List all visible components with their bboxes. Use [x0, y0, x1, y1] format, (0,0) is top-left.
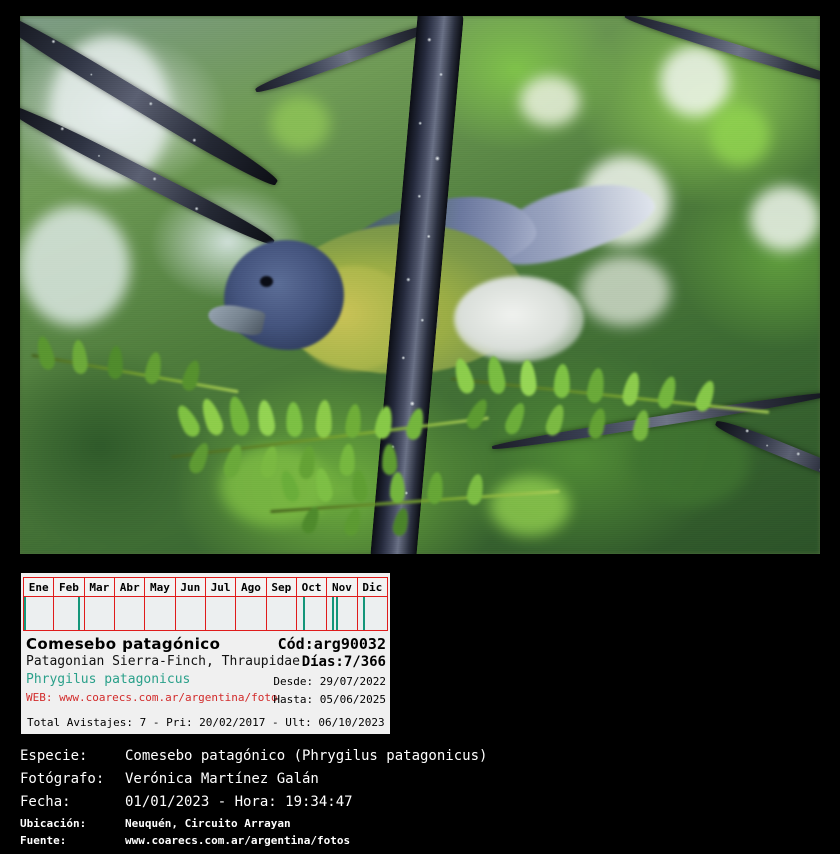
month-cell	[357, 597, 387, 631]
footer-value-fecha: 01/01/2023 - Hora: 19:34:47	[125, 794, 353, 810]
calendar-header-row: Ene Feb Mar Abr May Jun Jul Ago Sep Oct …	[24, 578, 388, 597]
month-header-jun: Jun	[175, 578, 205, 597]
photo-grain-overlay	[20, 16, 820, 554]
month-header-oct: Oct	[296, 578, 326, 597]
footer-row-fotografo: Fotógrafo: Verónica Martínez Galán	[20, 771, 820, 794]
footer-label-fotografo: Fotógrafo:	[20, 771, 125, 787]
footer-value-especie: Comesebo patagónico (Phrygilus patagonic…	[125, 748, 487, 764]
photo-metadata-footer: Especie: Comesebo patagónico (Phrygilus …	[20, 748, 820, 851]
row-scientific-name: Phrygilus patagonicus Desde: 29/07/2022	[26, 672, 390, 690]
month-cell	[266, 597, 296, 631]
footer-value-fuente[interactable]: www.coarecs.com.ar/argentina/fotos	[125, 834, 350, 847]
month-cell	[175, 597, 205, 631]
web-url-line[interactable]: WEB: www.coarecs.com.ar/argentina/foto	[26, 691, 278, 704]
month-header-may: May	[145, 578, 175, 597]
row-total: Total Avistajes: 7 - Pri: 20/02/2017 - U…	[26, 708, 390, 727]
calendar-marks-row	[24, 597, 388, 631]
date-range-from: Desde: 29/07/2022	[273, 675, 386, 688]
row-english-name: Patagonian Sierra-Finch, Thraupidae Días…	[26, 654, 390, 672]
days-counter: Días:7/366	[302, 654, 386, 670]
species-info-card: Ene Feb Mar Abr May Jun Jul Ago Sep Oct …	[20, 572, 391, 735]
month-header-mar: Mar	[84, 578, 114, 597]
month-cell	[236, 597, 266, 631]
card-info-block: Comesebo patagónico Cód:arg90032 Patagon…	[21, 631, 390, 727]
sighting-mark	[24, 597, 26, 630]
month-cell	[327, 597, 357, 631]
screenshot-root: Ene Feb Mar Abr May Jun Jul Ago Sep Oct …	[0, 0, 840, 854]
row-common-name: Comesebo patagónico Cód:arg90032	[26, 634, 390, 654]
footer-row-ubicacion: Ubicación: Neuquén, Circuito Arrayan	[20, 817, 820, 834]
date-range-to: Hasta: 05/06/2025	[273, 693, 386, 706]
bird-photograph	[20, 16, 820, 554]
sighting-mark	[363, 597, 365, 630]
month-header-sep: Sep	[266, 578, 296, 597]
footer-label-ubicacion: Ubicación:	[20, 817, 125, 830]
month-cell	[145, 597, 175, 631]
sighting-mark	[332, 597, 334, 630]
species-english-name: Patagonian Sierra-Finch, Thraupidae	[26, 654, 300, 669]
month-header-ene: Ene	[24, 578, 54, 597]
month-header-jul: Jul	[205, 578, 235, 597]
sighting-mark	[336, 597, 338, 630]
footer-label-fecha: Fecha:	[20, 794, 125, 810]
footer-value-fotografo: Verónica Martínez Galán	[125, 771, 319, 787]
month-header-nov: Nov	[327, 578, 357, 597]
month-header-dic: Dic	[357, 578, 387, 597]
footer-row-especie: Especie: Comesebo patagónico (Phrygilus …	[20, 748, 820, 771]
species-code: Cód:arg90032	[278, 635, 386, 653]
total-sightings-line: Total Avistajes: 7 - Pri: 20/02/2017 - U…	[26, 716, 385, 729]
footer-value-ubicacion: Neuquén, Circuito Arrayan	[125, 817, 291, 830]
month-header-ago: Ago	[236, 578, 266, 597]
sighting-mark	[78, 597, 80, 630]
month-cell	[54, 597, 84, 631]
month-header-feb: Feb	[54, 578, 84, 597]
month-cell	[84, 597, 114, 631]
row-web: WEB: www.coarecs.com.ar/argentina/foto H…	[26, 690, 390, 708]
month-cell	[24, 597, 54, 631]
month-cell	[114, 597, 144, 631]
footer-row-fuente: Fuente: www.coarecs.com.ar/argentina/fot…	[20, 834, 820, 851]
species-scientific-name: Phrygilus patagonicus	[26, 672, 190, 687]
monthly-sightings-calendar: Ene Feb Mar Abr May Jun Jul Ago Sep Oct …	[23, 577, 388, 631]
month-cell	[205, 597, 235, 631]
species-common-name: Comesebo patagónico	[26, 635, 220, 653]
month-header-abr: Abr	[114, 578, 144, 597]
footer-label-especie: Especie:	[20, 748, 125, 764]
footer-row-fecha: Fecha: 01/01/2023 - Hora: 19:34:47	[20, 794, 820, 817]
month-cell	[296, 597, 326, 631]
sighting-mark	[303, 597, 305, 630]
footer-label-fuente: Fuente:	[20, 834, 125, 847]
